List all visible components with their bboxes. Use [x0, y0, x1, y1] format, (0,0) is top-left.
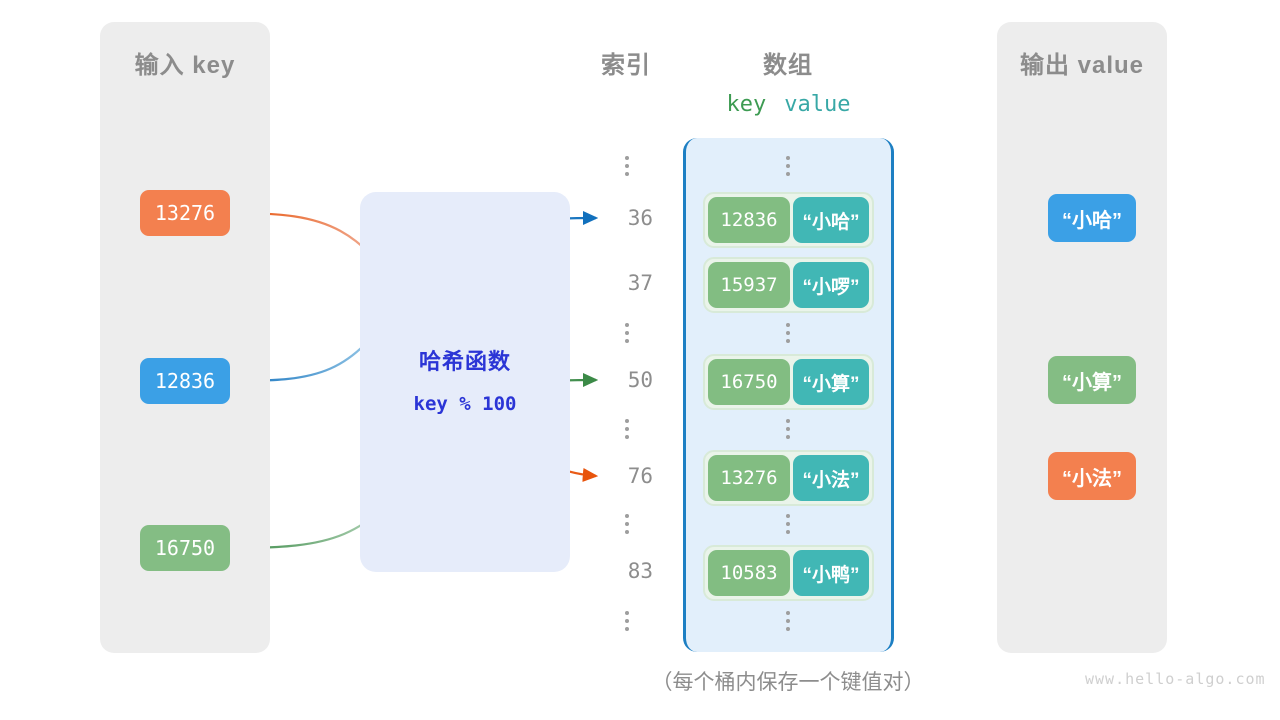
- index-label-83: 83: [583, 559, 653, 583]
- array-key-label: key: [727, 92, 767, 117]
- output-value-xiaoha[interactable]: “小哈”: [1048, 194, 1136, 242]
- index-label-76: 76: [583, 464, 653, 488]
- input-key-title: 输入 key: [100, 45, 270, 80]
- index-label-50: 50: [583, 368, 653, 392]
- array-kv-header: keyvalue: [683, 92, 894, 117]
- array-ellipsis-2: [783, 323, 793, 347]
- output-value-title: 输出 value: [997, 45, 1167, 80]
- bucket-83-key: 10583: [708, 550, 790, 596]
- index-ellipsis-bottom: [622, 611, 632, 635]
- input-key-13276[interactable]: 13276: [140, 190, 230, 236]
- hash-function-formula: key % 100: [360, 393, 570, 415]
- bucket-36-key: 12836: [708, 197, 790, 243]
- index-ellipsis-3: [622, 419, 632, 443]
- hash-function-box: 哈希函数 key % 100: [360, 192, 570, 572]
- bucket-76[interactable]: 13276 “小法”: [703, 450, 874, 506]
- bucket-50-key: 16750: [708, 359, 790, 405]
- output-value-panel: [997, 22, 1167, 653]
- array-ellipsis-bottom: [783, 611, 793, 635]
- bucket-37-key: 15937: [708, 262, 790, 308]
- bucket-50-value: “小算”: [793, 359, 869, 405]
- input-key-16750[interactable]: 16750: [140, 525, 230, 571]
- index-label-36: 36: [583, 206, 653, 230]
- array-ellipsis-4: [783, 514, 793, 538]
- bucket-36[interactable]: 12836 “小哈”: [703, 192, 874, 248]
- hash-function-title: 哈希函数: [360, 344, 570, 376]
- bucket-36-value: “小哈”: [793, 197, 869, 243]
- array-ellipsis-3: [783, 419, 793, 443]
- bucket-50[interactable]: 16750 “小算”: [703, 354, 874, 410]
- bucket-37-value: “小啰”: [793, 262, 869, 308]
- diagram-canvas: 输入 key 13276 12836 16750 哈希函数 key % 100 …: [0, 0, 1280, 720]
- array-value-label: value: [784, 92, 850, 117]
- site-watermark: www.hello-algo.com: [1085, 670, 1266, 688]
- index-column-title: 索引: [576, 45, 676, 80]
- bucket-76-value: “小法”: [793, 455, 869, 501]
- bucket-76-key: 13276: [708, 455, 790, 501]
- output-value-xiaofa[interactable]: “小法”: [1048, 452, 1136, 500]
- figure-caption: （每个桶内保存一个键值对）: [603, 666, 973, 696]
- bucket-83[interactable]: 10583 “小鸭”: [703, 545, 874, 601]
- bucket-37[interactable]: 15937 “小啰”: [703, 257, 874, 313]
- index-ellipsis-top: [622, 156, 632, 180]
- output-value-xiaosuan[interactable]: “小算”: [1048, 356, 1136, 404]
- index-ellipsis-4: [622, 514, 632, 538]
- index-ellipsis-2: [622, 323, 632, 347]
- index-label-37: 37: [583, 271, 653, 295]
- input-key-12836[interactable]: 12836: [140, 358, 230, 404]
- array-column-title: 数组: [738, 45, 838, 80]
- bucket-83-value: “小鸭”: [793, 550, 869, 596]
- array-ellipsis-top: [783, 156, 793, 180]
